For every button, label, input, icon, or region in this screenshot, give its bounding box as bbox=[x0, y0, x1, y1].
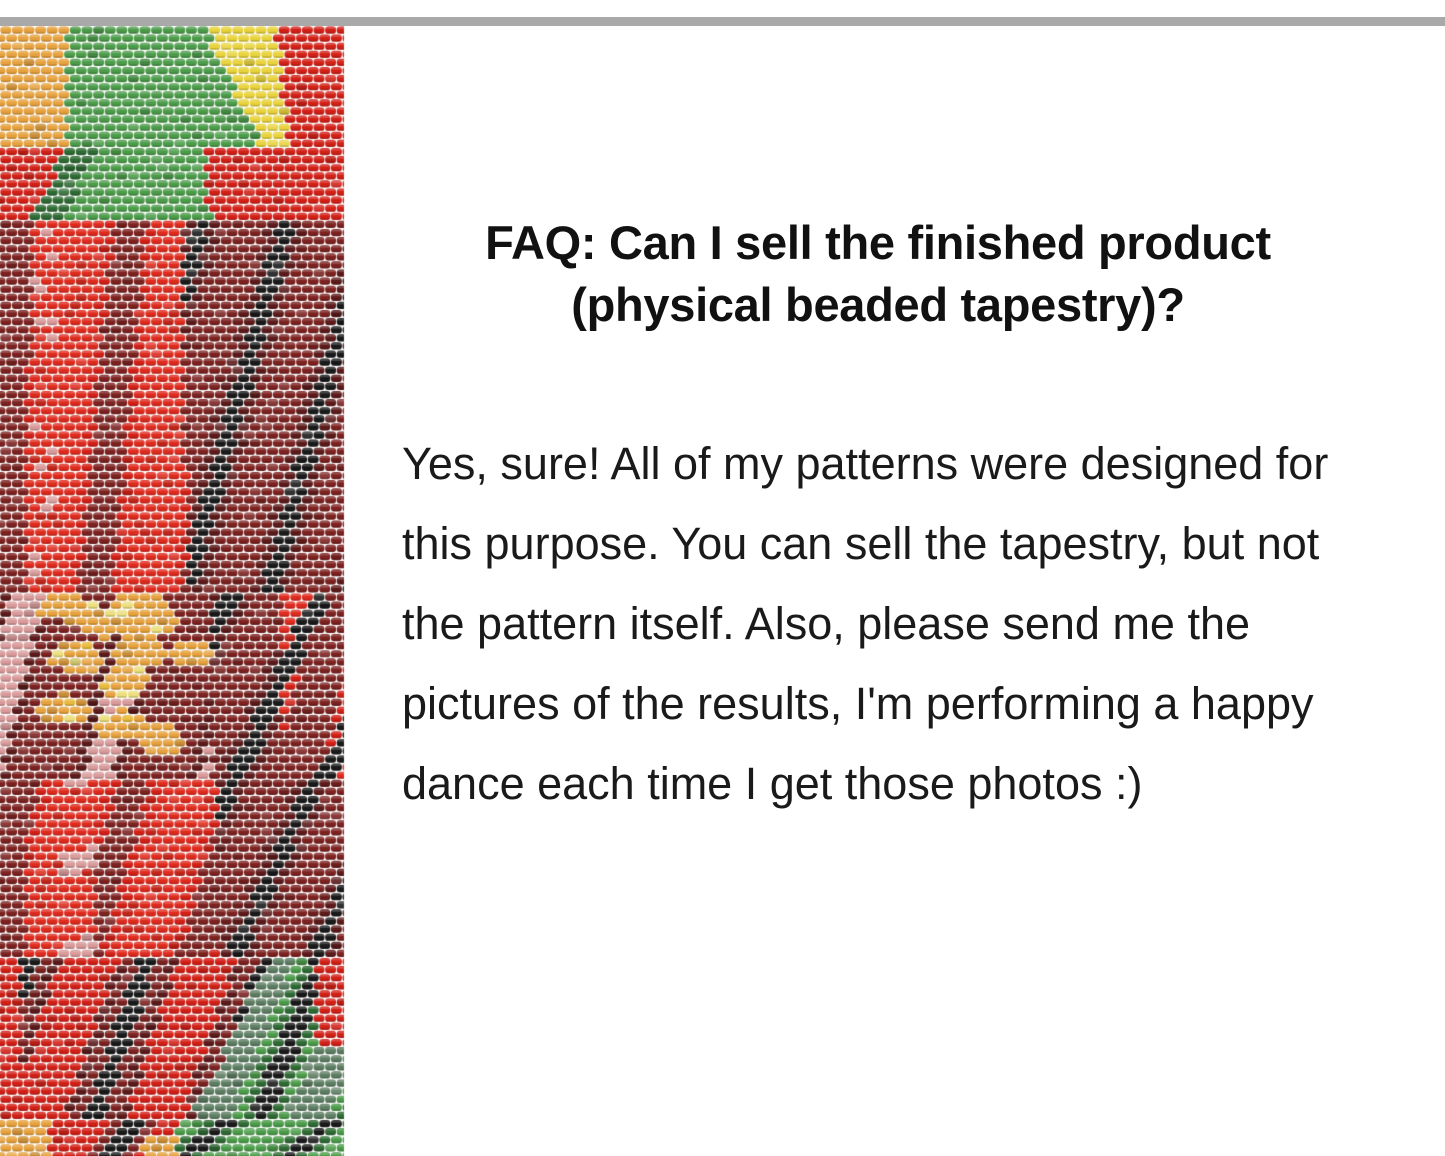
faq-text-column: FAQ: Can I sell the finished product (ph… bbox=[348, 26, 1445, 1156]
faq-heading: FAQ: Can I sell the finished product (ph… bbox=[402, 212, 1354, 336]
bead-pattern-image bbox=[0, 26, 348, 1156]
top-divider-rule bbox=[0, 17, 1445, 26]
page-content: FAQ: Can I sell the finished product (ph… bbox=[0, 26, 1445, 1156]
faq-body-text: Yes, sure! All of my patterns were desig… bbox=[402, 424, 1342, 824]
bead-pattern-panel bbox=[0, 26, 348, 1156]
